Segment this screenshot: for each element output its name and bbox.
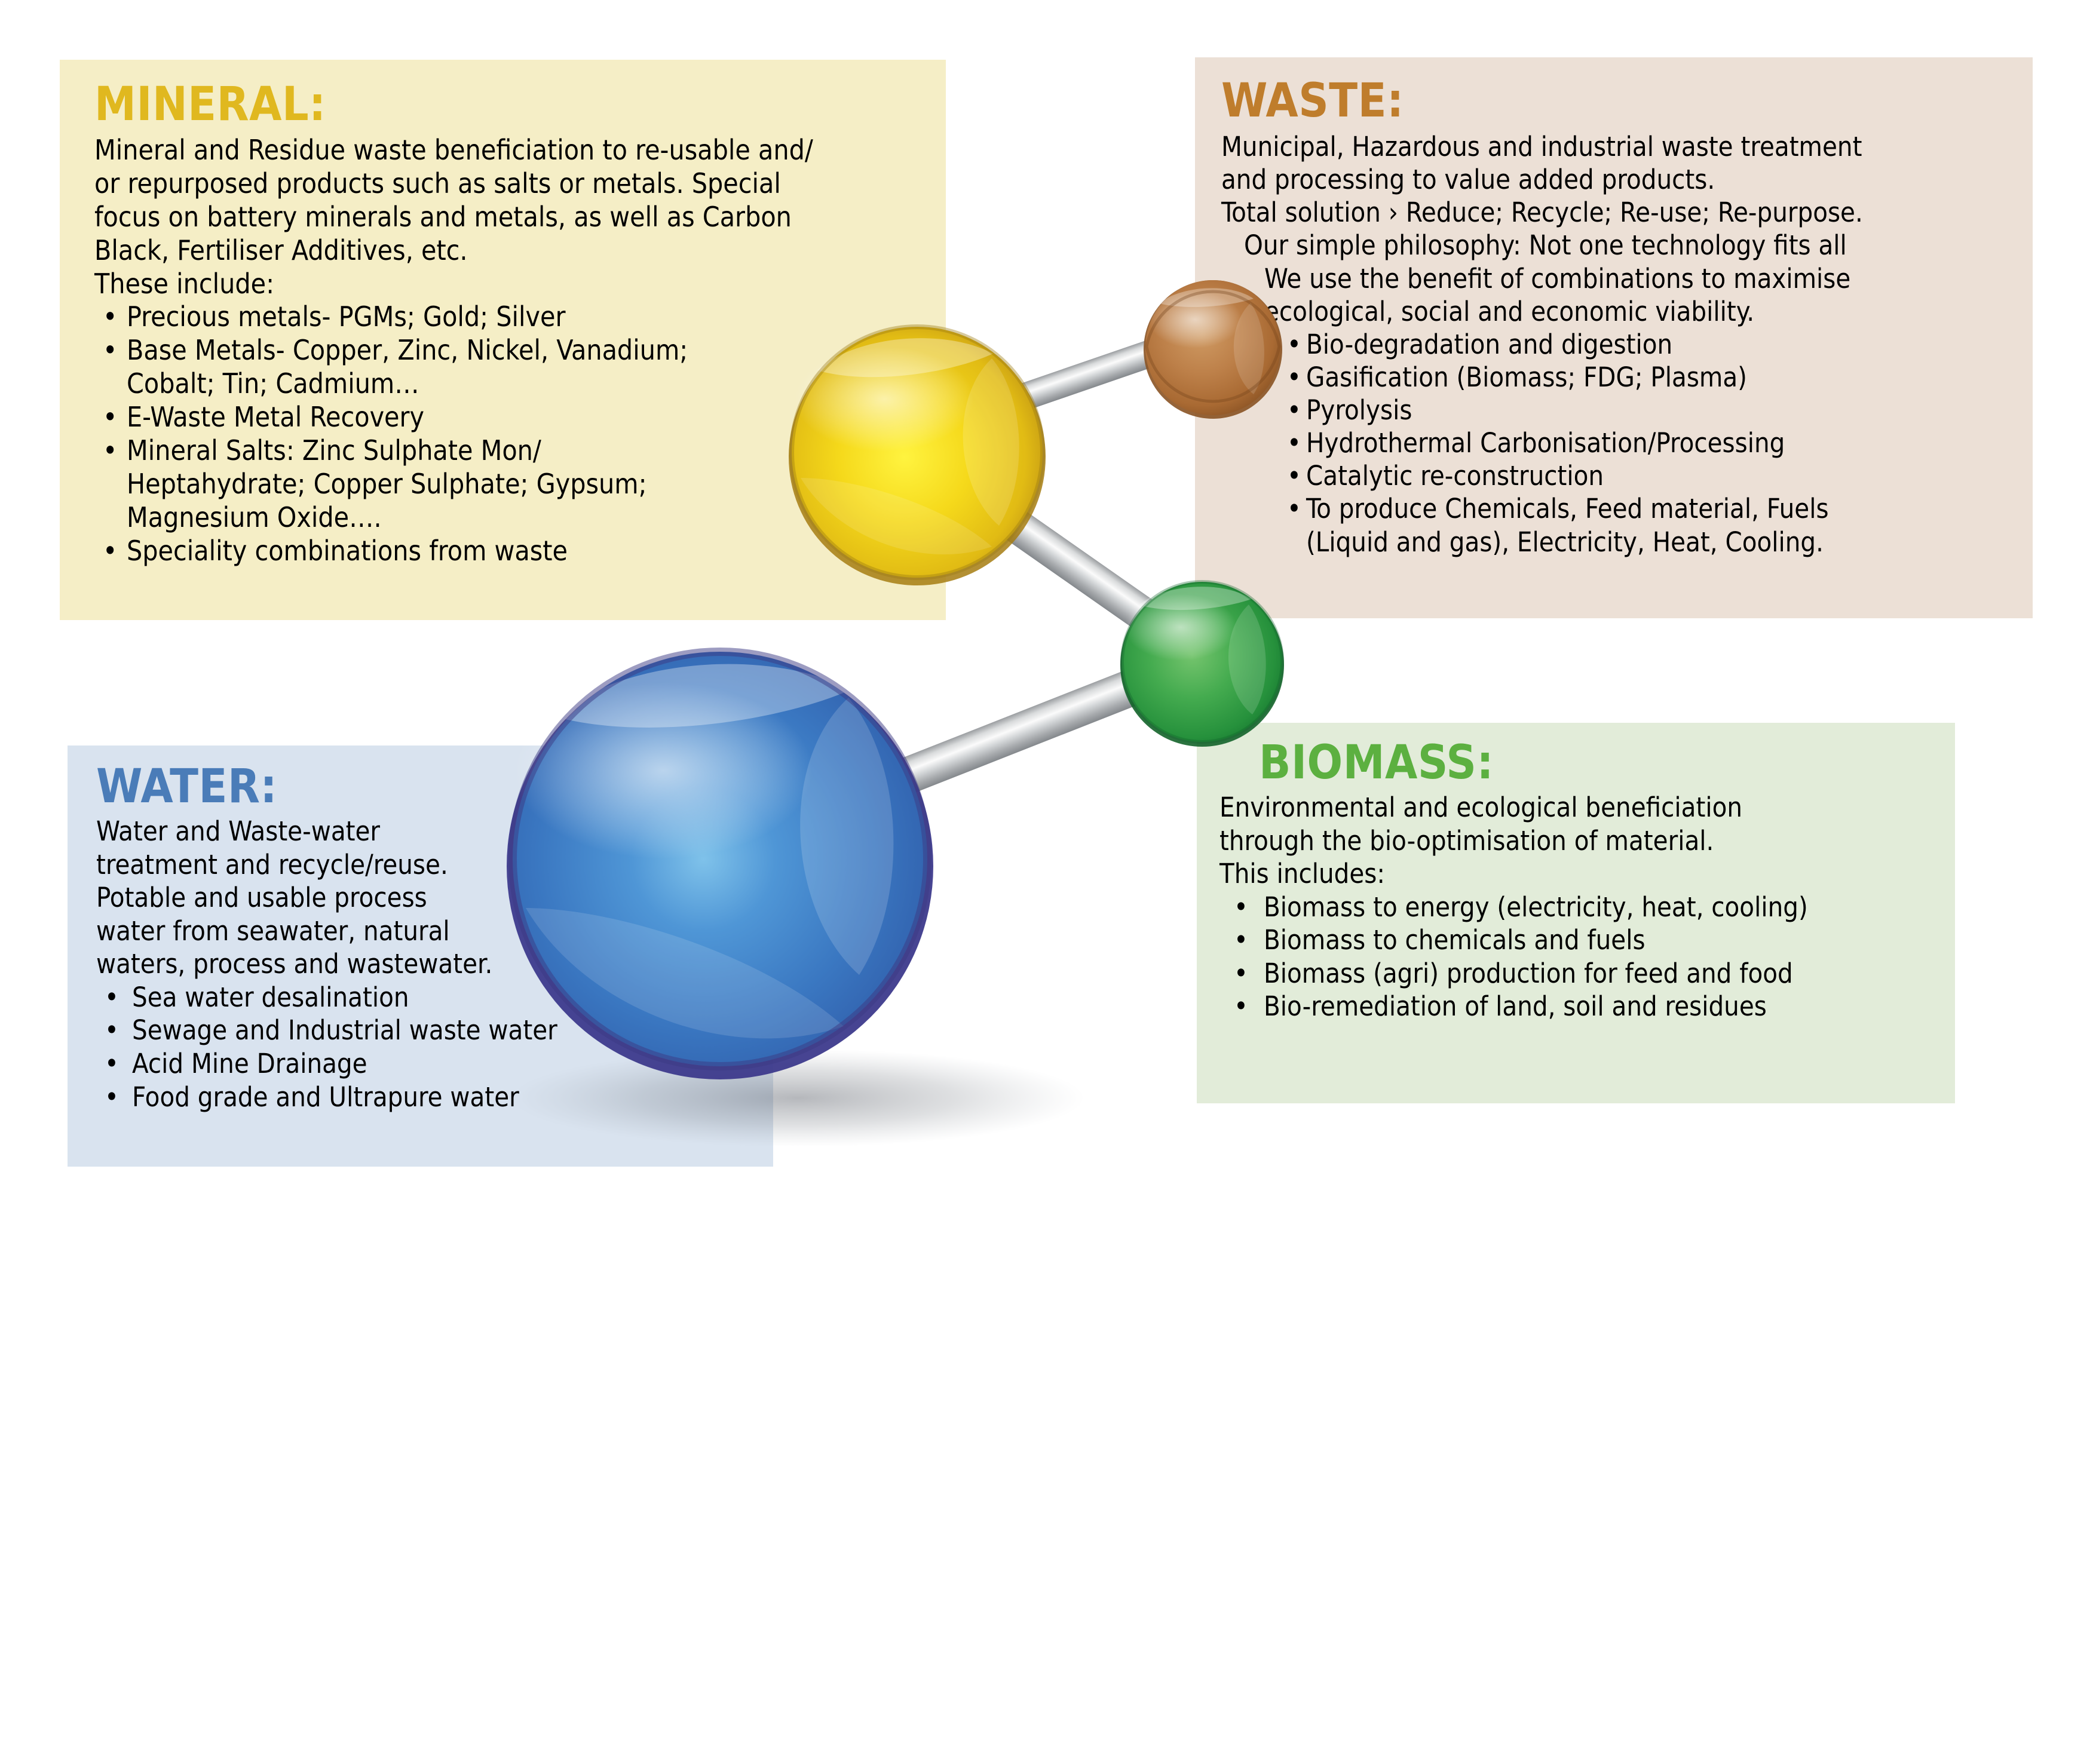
panel-waste-bullet-list: Bio-degradation and digestion Gasificati… [1221,328,2021,559]
list-item: Bio-degradation and digestion [1287,328,2021,361]
paragraph-line: Total solution › Reduce; Recycle; Re-use… [1221,196,2021,229]
paragraph-line: Our simple philosophy: Not one technolog… [1244,229,2021,262]
list-item: Food grade and Ultrapure water [96,1081,761,1114]
paragraph-line: or repurposed products such as salts or … [94,167,926,201]
panel-water: WATER: Water and Waste-water treatment a… [68,746,773,1167]
paragraph-line: Environmental and ecological beneficiati… [1219,791,1943,824]
list-item: Mineral Salts: Zinc Sulphate Mon/ Heptah… [94,434,926,535]
panel-waste: WASTE: Municipal, Hazardous and industri… [1195,57,2033,618]
paragraph-line: waters, process and wastewater. [96,947,761,981]
paragraph-line: Water and Waste-water [96,815,761,848]
panel-mineral-title: MINERAL: [94,81,926,128]
panel-waste-philosophy-line-1: Our simple philosophy: Not one technolog… [1221,229,2021,262]
list-item: E-Waste Metal Recovery [94,401,926,434]
bond-yellow-brown [988,317,1222,421]
panel-mineral-bullet-list: Precious metals- PGMs; Gold; Silver Base… [94,300,926,567]
list-item: Base Metals- Copper, Zinc, Nickel, Vanad… [94,334,926,401]
list-item: Hydrothermal Carbonisation/Processing [1287,427,2021,459]
list-item: Pyrolysis [1287,394,2021,427]
list-item: Speciality combinations from waste [94,535,926,568]
bond-yellow-green [976,490,1206,665]
paragraph-line: ecological, social and economic viabilit… [1264,295,2021,328]
panel-waste-philosophy-line-2: We use the benefit of combinations to ma… [1221,262,2021,295]
list-item: Precious metals- PGMs; Gold; Silver [94,300,926,334]
paragraph-line: focus on battery minerals and metals, as… [94,201,926,234]
panel-biomass: BIOMASS: Environmental and ecological be… [1197,723,1955,1103]
list-item: Catalytic re-construction [1287,459,2021,492]
panel-mineral-paragraph: Mineral and Residue waste beneficiation … [94,134,926,300]
list-item: Gasification (Biomass; FDG; Plasma) [1287,361,2021,394]
list-item: Biomass to chemicals and fuels [1219,924,1943,957]
panel-biomass-title: BIOMASS: [1219,740,1943,786]
paragraph-line: Black, Fertiliser Additives, etc. [94,234,926,268]
list-item: Acid Mine Drainage [96,1047,761,1081]
paragraph-line: Potable and usable process [96,881,761,915]
panel-water-paragraph: Water and Waste-water treatment and recy… [96,815,761,981]
paragraph-line: treatment and recycle/reuse. [96,848,761,882]
list-item: Sea water desalination [96,981,761,1014]
list-item: Biomass (agri) production for feed and f… [1219,957,1943,990]
panel-biomass-bullet-list: Biomass to energy (electricity, heat, co… [1219,891,1943,1023]
paragraph-line: We use the benefit of combinations to ma… [1264,262,2021,295]
panel-water-title: WATER: [96,763,761,810]
panel-waste-title: WASTE: [1221,78,2021,124]
list-item: Bio-remediation of land, soil and residu… [1219,990,1943,1023]
panel-biomass-paragraph: Environmental and ecological beneficiati… [1219,791,1943,891]
list-item: Biomass to energy (electricity, heat, co… [1219,891,1943,924]
paragraph-line: Municipal, Hazardous and industrial wast… [1221,130,2021,163]
paragraph-line: These include: [94,268,926,301]
panel-mineral: MINERAL: Mineral and Residue waste benef… [60,60,946,620]
list-item: To produce Chemicals, Feed material, Fue… [1287,492,2021,558]
paragraph-line: through the bio-optimisation of material… [1219,824,1943,858]
panel-waste-philosophy-line-3: ecological, social and economic viabilit… [1221,295,2021,328]
infographic-canvas: MINERAL: Mineral and Residue waste benef… [0,0,2096,1764]
paragraph-line: and processing to value added products. [1221,163,2021,196]
paragraph-line: Mineral and Residue waste beneficiation … [94,134,926,167]
panel-water-bullet-list: Sea water desalination Sewage and Indust… [96,981,761,1113]
paragraph-line: water from seawater, natural [96,915,761,948]
paragraph-line: This includes: [1219,857,1943,891]
list-item: Sewage and Industrial waste water [96,1014,761,1047]
panel-waste-paragraph: Municipal, Hazardous and industrial wast… [1221,130,2021,229]
